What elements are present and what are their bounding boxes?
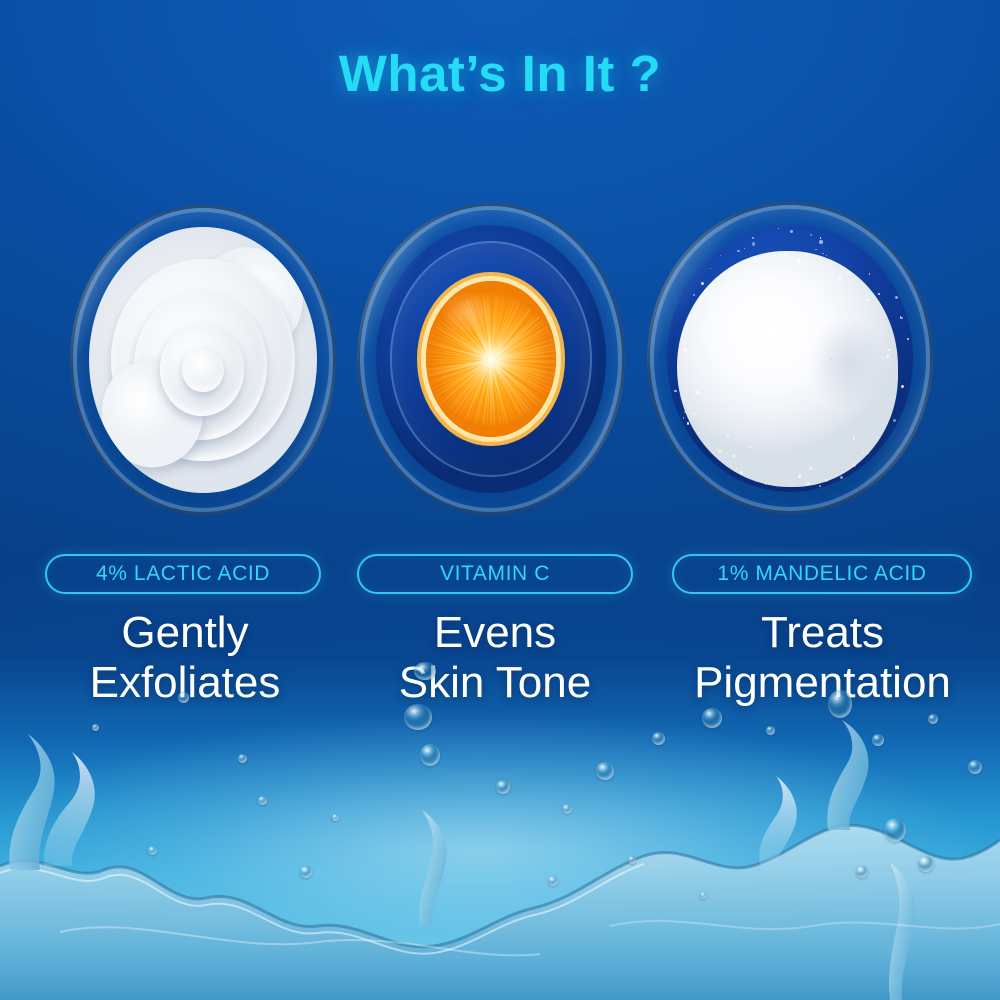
pill-label: 4% LACTIC ACID bbox=[96, 562, 270, 586]
glass-bowl-rim-2 bbox=[357, 203, 625, 515]
pill-label: 1% MANDELIC ACID bbox=[717, 562, 926, 586]
powder-bowl-icon bbox=[647, 202, 933, 514]
orange-slice-bowl-icon bbox=[357, 203, 625, 515]
pill-label: VITAMIN C bbox=[440, 562, 550, 586]
ingredient-pill-lactic-acid[interactable]: 4% LACTIC ACID bbox=[45, 554, 321, 594]
cream-bowl-icon bbox=[70, 205, 336, 515]
infographic-canvas: What’s In It ? bbox=[0, 0, 1000, 1000]
ingredient-pill-mandelic-acid[interactable]: 1% MANDELIC ACID bbox=[672, 554, 972, 594]
water-horizon-glow bbox=[0, 690, 1000, 1000]
glass-bowl-rim-3 bbox=[647, 202, 933, 514]
ingredient-pill-vitamin-c[interactable]: VITAMIN C bbox=[357, 554, 633, 594]
glass-bowl-rim-1 bbox=[70, 205, 336, 515]
